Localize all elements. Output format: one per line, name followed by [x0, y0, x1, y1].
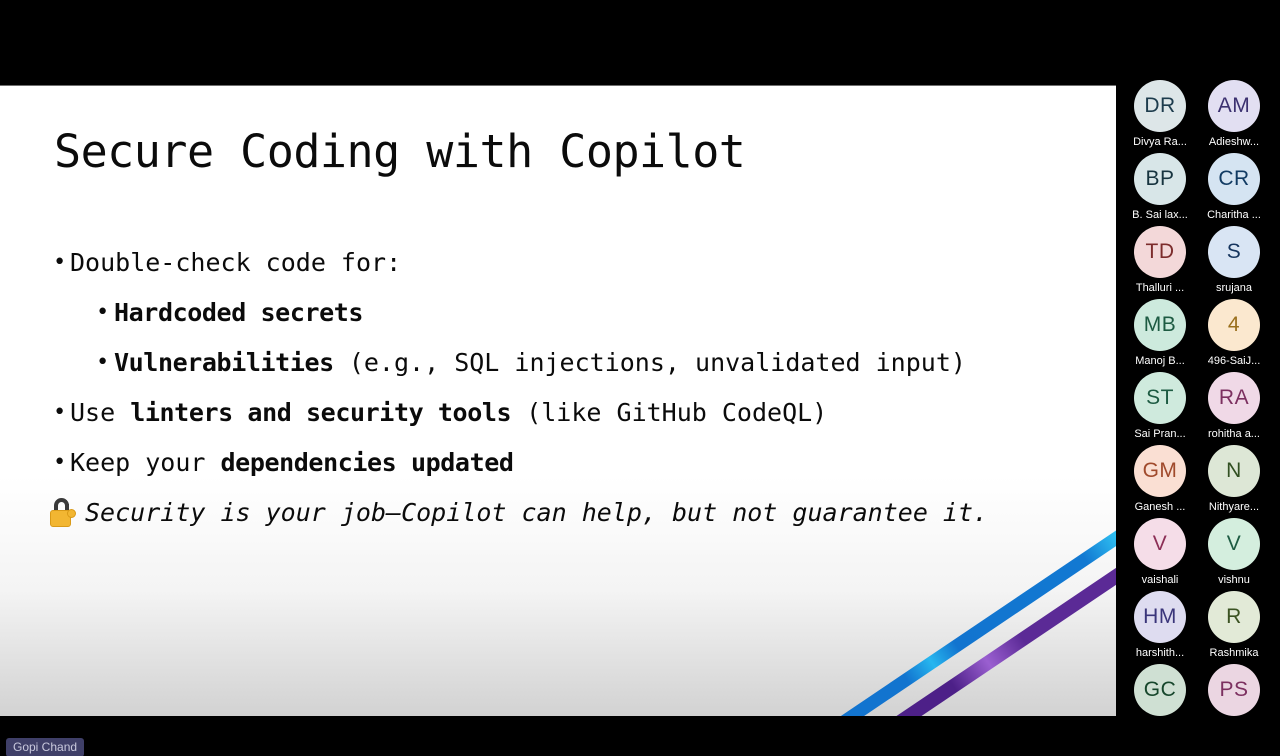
avatar[interactable]: R: [1208, 591, 1260, 643]
participant-name-label: 496-SaiJ...: [1197, 354, 1271, 369]
participant-name-label: Charitha ...: [1197, 208, 1271, 223]
avatar[interactable]: TD: [1134, 226, 1186, 278]
participant-tile[interactable]: AMAdieshw...: [1197, 80, 1271, 150]
participant-tile[interactable]: 4496-SaiJ...: [1197, 299, 1271, 369]
participant-tile[interactable]: TDThalluri ...: [1123, 226, 1197, 296]
avatar[interactable]: PS: [1208, 664, 1260, 716]
participant-tile[interactable]: RArohitha a...: [1197, 372, 1271, 442]
avatar[interactable]: V: [1134, 518, 1186, 570]
participant-tile[interactable]: Vvaishali: [1123, 518, 1197, 588]
participant-name-label: Ganesh ...: [1123, 500, 1197, 515]
avatar[interactable]: S: [1208, 226, 1260, 278]
bullet-text-segment: Hardcoded secrets: [114, 298, 363, 327]
participant-name-label: vaishali: [1123, 573, 1197, 588]
participant-tile[interactable]: Vvishnu: [1197, 518, 1271, 588]
slide-bullet-level-1: Keep your dependencies updated: [50, 438, 1010, 488]
slide-body: Double-check code for:Hardcoded secretsV…: [50, 238, 1010, 538]
avatar[interactable]: BP: [1134, 153, 1186, 205]
slide-bullet-level-1: Use linters and security tools (like Git…: [50, 388, 1010, 438]
participants-rail[interactable]: DRDivya Ra...AMAdieshw...BPB. Sai lax...…: [1118, 75, 1280, 735]
participant-name-label: Adieshw...: [1197, 135, 1271, 150]
avatar[interactable]: V: [1208, 518, 1260, 570]
bullet-text-segment: Vulnerabilities: [114, 348, 334, 377]
participant-name-label: srujana: [1197, 281, 1271, 296]
participant-tile[interactable]: STSai Pran...: [1123, 372, 1197, 442]
avatar[interactable]: AM: [1208, 80, 1260, 132]
participant-name-label: vishnu: [1197, 573, 1271, 588]
avatar[interactable]: DR: [1134, 80, 1186, 132]
slide-title: Secure Coding with Copilot: [54, 127, 745, 177]
meeting-screen-share-view: Secure Coding with Copilot Double-check …: [0, 0, 1280, 756]
avatar[interactable]: GC: [1134, 664, 1186, 716]
participant-tile[interactable]: GMGanesh ...: [1123, 445, 1197, 515]
top-letterbox: [0, 0, 1280, 85]
participant-name-label: B. Sai lax...: [1123, 208, 1197, 223]
slide-bullet-level-2: Vulnerabilities (e.g., SQL injections, u…: [94, 338, 1010, 388]
open-padlock-icon: [50, 498, 77, 528]
slide-bullet-level-1: Double-check code for:: [50, 238, 1010, 288]
avatar[interactable]: GM: [1134, 445, 1186, 497]
bullet-text-segment: (like GitHub CodeQL): [511, 398, 827, 427]
avatar[interactable]: RA: [1208, 372, 1260, 424]
participant-name-label: Divya Ra...: [1123, 135, 1197, 150]
participant-name-label: Sai Pran...: [1123, 427, 1197, 442]
participant-tile[interactable]: Ssrujana: [1197, 226, 1271, 296]
participant-tile[interactable]: NNithyare...: [1197, 445, 1271, 515]
slide-bullet-level-2: Hardcoded secrets: [94, 288, 1010, 338]
participant-tile[interactable]: DRDivya Ra...: [1123, 80, 1197, 150]
participant-name-label: Manoj B...: [1123, 354, 1197, 369]
bullet-text-segment: (e.g., SQL injections, unvalidated input…: [334, 348, 966, 377]
slide-closing-line: Security is your job—Copilot can help, b…: [50, 488, 1010, 538]
participant-tile[interactable]: MBManoj B...: [1123, 299, 1197, 369]
avatar[interactable]: CR: [1208, 153, 1260, 205]
participant-name-label: Nithyare...: [1197, 500, 1271, 515]
slide-closing-text: Security is your job—Copilot can help, b…: [85, 498, 988, 527]
participant-tile[interactable]: BPB. Sai lax...: [1123, 153, 1197, 223]
participant-name-label: Rashmika: [1197, 646, 1271, 661]
participant-name-label: Thalluri ...: [1123, 281, 1197, 296]
avatar[interactable]: N: [1208, 445, 1260, 497]
participant-tile[interactable]: HMharshith...: [1123, 591, 1197, 661]
bottom-bar: Gopi Chand: [0, 716, 1280, 756]
bullet-text-segment: Keep your: [70, 448, 221, 477]
presentation-slide[interactable]: Secure Coding with Copilot Double-check …: [0, 85, 1116, 716]
avatar[interactable]: 4: [1208, 299, 1260, 351]
avatar[interactable]: HM: [1134, 591, 1186, 643]
participant-name-label: rohitha a...: [1197, 427, 1271, 442]
slide-bullet-list: Double-check code for:Hardcoded secretsV…: [50, 238, 1010, 488]
bullet-text-segment: linters and security tools: [130, 398, 511, 427]
self-name-label: Gopi Chand: [6, 738, 84, 756]
participant-name-label: harshith...: [1123, 646, 1197, 661]
bullet-text-segment: Use: [70, 398, 130, 427]
avatar[interactable]: MB: [1134, 299, 1186, 351]
participant-tile[interactable]: RRashmika: [1197, 591, 1271, 661]
participant-tile[interactable]: CRCharitha ...: [1197, 153, 1271, 223]
bullet-text-segment: dependencies updated: [221, 448, 514, 477]
bullet-text-segment: Double-check code for:: [70, 248, 401, 277]
avatar[interactable]: ST: [1134, 372, 1186, 424]
